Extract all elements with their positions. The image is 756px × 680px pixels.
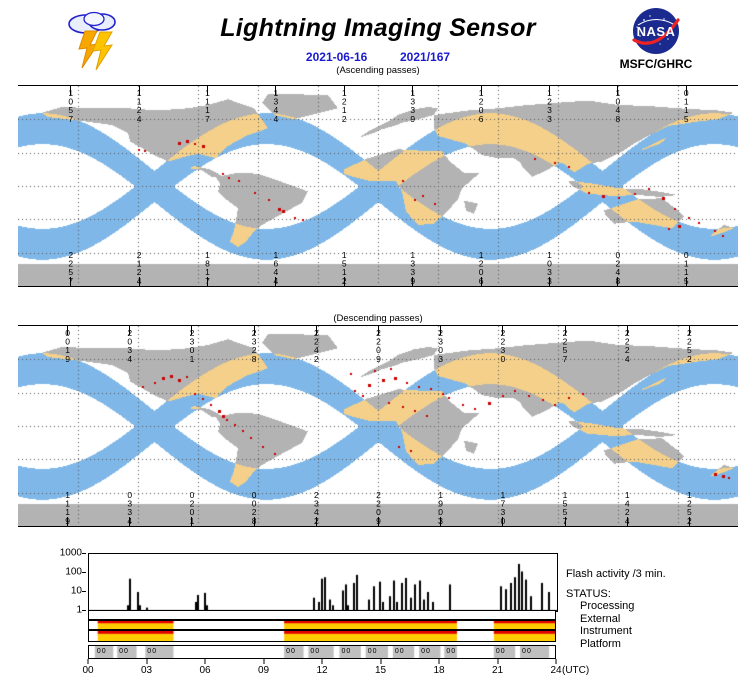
- status-bar-processing[interactable]: [88, 610, 556, 620]
- orbit-time-label: 2342: [312, 490, 321, 524]
- orbit-time-label: 1206: [477, 250, 486, 284]
- orbit-time-label: 1057: [66, 88, 75, 122]
- orbit-time-label: 1339: [408, 88, 417, 122]
- platform-block-label: 00: [119, 647, 129, 656]
- legend-item-platform: Platform: [566, 638, 756, 651]
- time-axis-tick: [205, 659, 206, 664]
- platform-block-label: 00: [522, 647, 532, 656]
- platform-block-label: 00: [421, 647, 431, 656]
- orbit-time-label: 2124: [135, 250, 144, 284]
- svg-text:NASA: NASA: [637, 24, 676, 39]
- time-axis-label: 00: [82, 665, 93, 676]
- flash-activity-plot[interactable]: [88, 553, 558, 612]
- orbit-time-label: 2328: [250, 328, 259, 362]
- orbit-time-label: 0028: [250, 490, 259, 524]
- page-header: Lightning Imaging Sensor 2021-06-16 2021…: [0, 0, 756, 78]
- orbit-time-label: 1817: [203, 250, 212, 284]
- flash-y-tick-mark: [82, 553, 86, 554]
- time-axis-tick: [497, 659, 498, 664]
- orbit-time-label: 1048: [613, 88, 622, 122]
- orbit-time-label: 1339: [408, 250, 417, 284]
- orbit-time-label: 0334: [125, 490, 134, 524]
- time-axis-label: 09: [258, 665, 269, 676]
- agency-caption: MSFC/GHRC: [592, 57, 720, 71]
- orbit-time-label: 1512: [340, 250, 349, 284]
- status-bar-platform[interactable]: 000000000000000000000000: [88, 645, 556, 659]
- orbit-time-label: 1644: [271, 250, 280, 284]
- time-axis-tick: [88, 659, 89, 664]
- time-axis-tick: [146, 659, 147, 664]
- time-axis-tick: [380, 659, 381, 664]
- descending-caption: (Descending passes): [0, 313, 756, 324]
- flash-y-tick-mark: [82, 610, 86, 611]
- orbit-time-label: 2252: [685, 328, 694, 362]
- orbit-time-label: 1206: [477, 88, 486, 122]
- orbit-time-label: 0248: [613, 250, 622, 284]
- orbit-time-label: 1212: [340, 88, 349, 122]
- orbit-time-label: 0115: [682, 88, 691, 122]
- platform-block-label: 00: [395, 647, 405, 656]
- orbit-time-label: 1124: [135, 88, 144, 122]
- time-axis-label: 12: [316, 665, 327, 676]
- orbit-time-label: 2224: [623, 328, 632, 362]
- flash-y-tick-label: 100: [65, 567, 82, 578]
- legend-item-instrument: Instrument: [566, 625, 756, 638]
- platform-block-label: 00: [446, 647, 456, 656]
- orbit-time-label: 1557: [561, 490, 570, 524]
- status-instrument-canvas: [89, 631, 555, 641]
- status-legend-title: STATUS:: [566, 588, 756, 600]
- map-ascending-passes[interactable]: 1057112411171344121213391206123310480115…: [18, 85, 738, 287]
- time-axis-tick: [439, 659, 440, 664]
- flash-y-tick-mark: [82, 572, 86, 573]
- time-axis: 000306091215182124: [88, 659, 556, 679]
- time-axis-tick: [263, 659, 264, 664]
- platform-block-label: 00: [286, 647, 296, 656]
- nasa-meatball-logo: NASA: [620, 6, 692, 56]
- orbit-time-label: 2303: [436, 328, 445, 362]
- platform-block-label: 00: [496, 647, 506, 656]
- time-axis-label: 21: [492, 665, 503, 676]
- status-bar-instrument[interactable]: [88, 630, 556, 642]
- orbit-time-label: 1730: [498, 490, 507, 524]
- flash-activity-y-axis: 1101001000: [40, 548, 86, 616]
- orbit-time-label: 1119: [63, 490, 72, 524]
- platform-block-label: 00: [368, 647, 378, 656]
- orbit-time-label: 2257: [561, 328, 570, 362]
- orbit-time-label: 2209: [374, 490, 383, 524]
- orbit-time-label: 1344: [271, 88, 280, 122]
- status-external-canvas: [89, 621, 555, 629]
- orbit-time-label: 1117: [203, 88, 212, 122]
- flash-y-tick-label: 10: [71, 586, 82, 597]
- orbit-time-label: 1903: [436, 490, 445, 524]
- time-axis-label: 03: [141, 665, 152, 676]
- status-legend: Flash activity /3 min. STATUS: Processin…: [566, 568, 756, 650]
- orbit-time-label: 0019: [63, 328, 72, 362]
- orbit-time-label: 0115: [682, 250, 691, 284]
- ascending-map-canvas: [18, 86, 738, 286]
- status-platform-canvas: [89, 646, 555, 658]
- orbit-time-label: 2301: [187, 328, 196, 362]
- legend-item-external: External: [566, 613, 756, 626]
- time-axis-label: 06: [199, 665, 210, 676]
- flash-y-tick-mark: [82, 591, 86, 592]
- orbit-time-label: 2257: [66, 250, 75, 284]
- date-doy: 2021/167: [400, 50, 450, 64]
- map-descending-passes[interactable]: 0019203423012328224222092303223022572224…: [18, 325, 738, 527]
- platform-block-label: 00: [310, 647, 320, 656]
- orbit-time-label: 0201: [187, 490, 196, 524]
- orbit-time-label: 1424: [623, 490, 632, 524]
- time-axis-label: 15: [375, 665, 386, 676]
- orbit-time-label: 1033: [545, 250, 554, 284]
- orbit-time-label: 2230: [498, 328, 507, 362]
- platform-block-label: 00: [147, 647, 157, 656]
- time-axis-tick: [556, 659, 557, 664]
- time-axis-label: 18: [433, 665, 444, 676]
- flash-y-tick-label: 1000: [60, 548, 82, 559]
- orbit-time-label: 1233: [545, 88, 554, 122]
- orbit-time-label: 1252: [685, 490, 694, 524]
- time-axis-tick: [322, 659, 323, 664]
- flash-activity-bars: [89, 554, 557, 611]
- orbit-time-label: 2242: [312, 328, 321, 362]
- orbit-time-label: 2209: [374, 328, 383, 362]
- status-processing-canvas: [89, 611, 555, 619]
- platform-block-label: 00: [341, 647, 351, 656]
- platform-block-label: 00: [97, 647, 107, 656]
- date-iso: 2021-06-16: [306, 50, 367, 64]
- status-bar-external[interactable]: [88, 620, 556, 630]
- flash-activity-label: Flash activity /3 min.: [566, 568, 756, 580]
- orbit-time-label: 2034: [125, 328, 134, 362]
- time-axis-label: 24: [550, 665, 561, 676]
- legend-item-processing: Processing: [566, 600, 756, 613]
- time-axis-unit: (UTC): [562, 665, 589, 676]
